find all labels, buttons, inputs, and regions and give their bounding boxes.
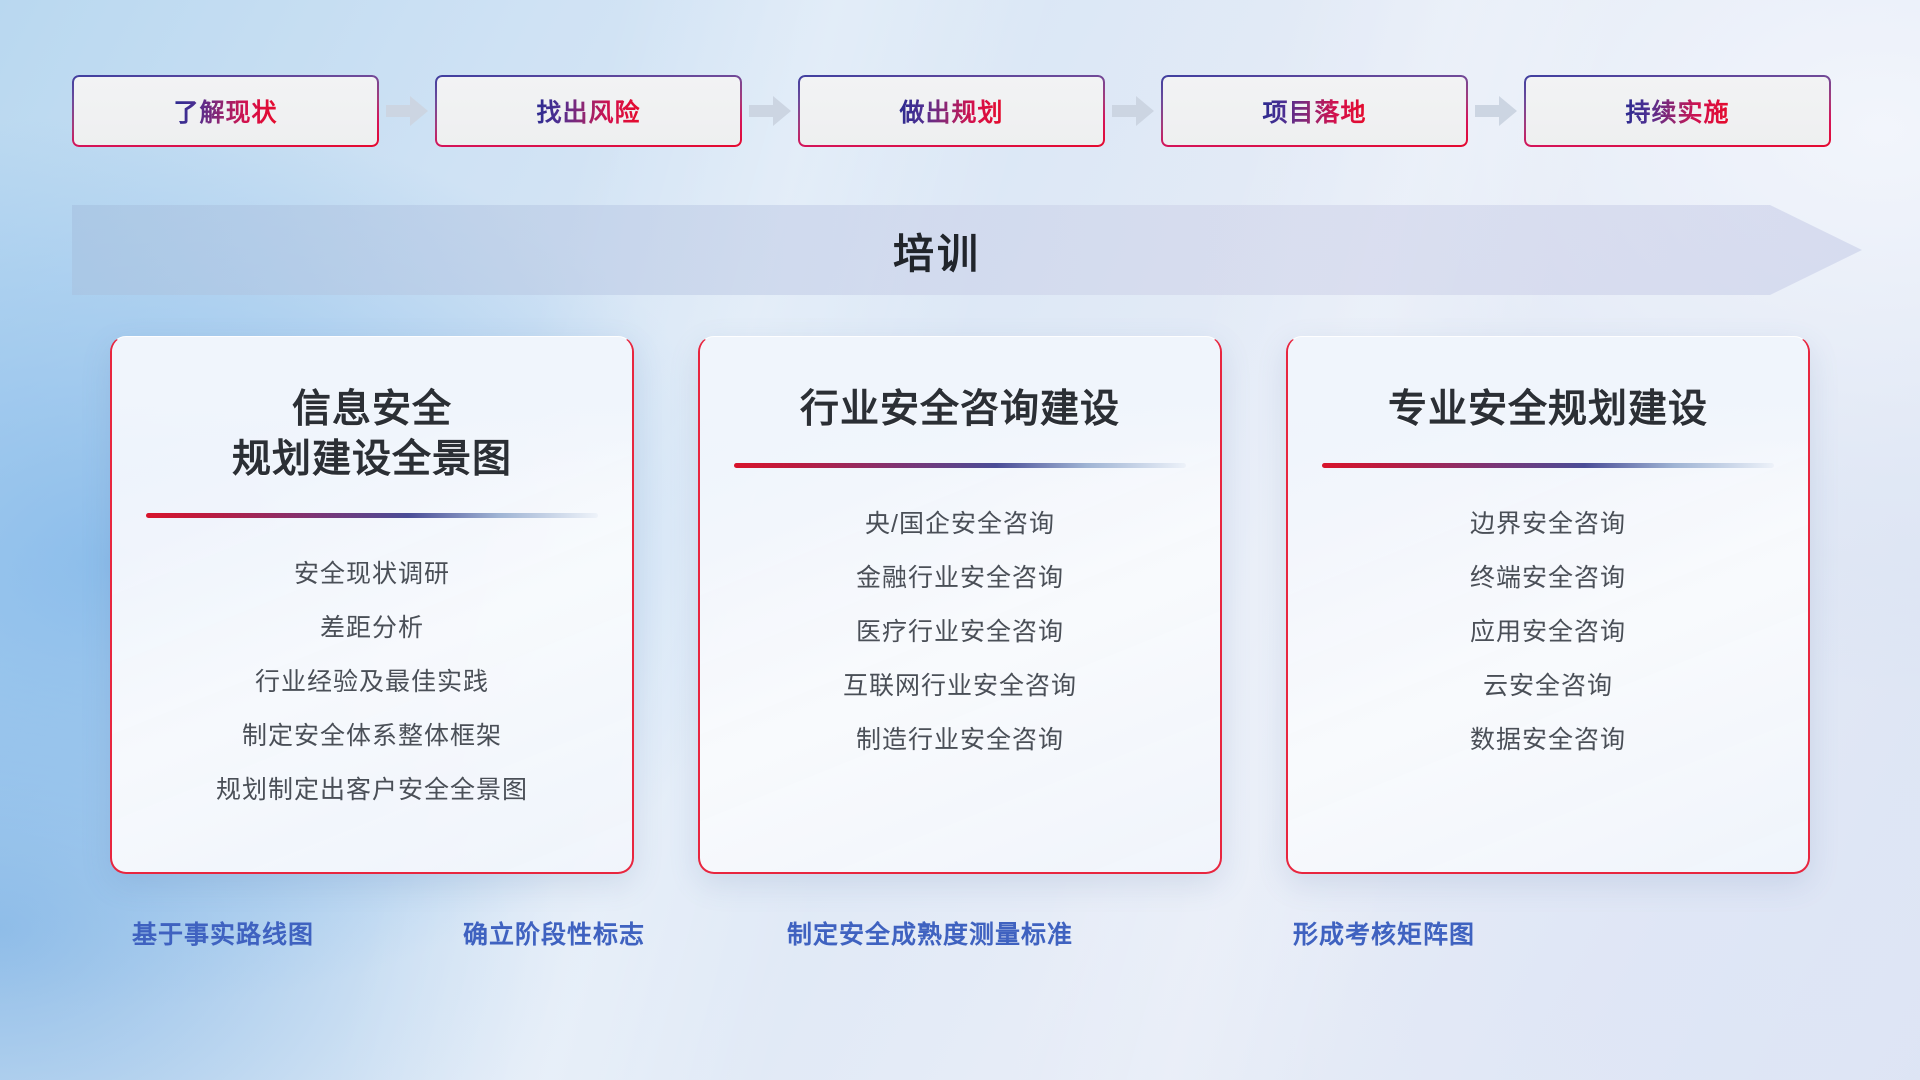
arrow-right-icon [1105,75,1161,147]
arrow-right-icon [379,75,435,147]
card-item-list: 安全现状调研 差距分析 行业经验及最佳实践 制定安全体系整体框架 规划制定出客户… [146,554,598,806]
list-item: 应用安全咨询 [1470,612,1626,648]
list-item: 规划制定出客户安全全景图 [216,770,528,806]
card-divider [1322,463,1774,468]
step-box-2[interactable]: 找出风险 [435,75,742,147]
card-item-list: 边界安全咨询 终端安全咨询 应用安全咨询 云安全咨询 数据安全咨询 [1322,504,1774,756]
footnote-row: 基于事实路线图 确立阶段性标志 制定安全成熟度测量标准 形成考核矩阵图 [0,915,1920,965]
card-title: 行业安全咨询建设 [800,385,1120,435]
step-box-4[interactable]: 项目落地 [1161,75,1468,147]
step-label: 找出风险 [536,93,640,129]
arrow-right-icon [1468,75,1524,147]
list-item: 医疗行业安全咨询 [856,612,1064,648]
list-item: 行业经验及最佳实践 [255,662,489,698]
arrow-right-icon [742,75,798,147]
card-professional-planning[interactable]: 专业安全规划建设 边界安全咨询 终端安全咨询 应用安全咨询 云安全咨询 数据安全… [1286,336,1810,874]
card-group: 信息安全 规划建设全景图 安全现状调研 差距分析 行业经验及最佳实践 制定安全体… [110,336,1810,874]
footnote-roadmap: 基于事实路线图 [132,915,314,951]
footnote-maturity-standard: 制定安全成熟度测量标准 [787,915,1073,951]
step-flow: 了解现状 找出风险 做出规划 项目落地 [72,75,1856,147]
list-item: 差距分析 [320,608,424,644]
banner-title: 培训 [72,205,1862,295]
list-item: 制造行业安全咨询 [856,720,1064,756]
list-item: 制定安全体系整体框架 [242,716,502,752]
card-title: 信息安全 规划建设全景图 [232,385,512,485]
list-item: 边界安全咨询 [1470,504,1626,540]
list-item: 金融行业安全咨询 [856,558,1064,594]
step-box-3[interactable]: 做出规划 [798,75,1105,147]
step-label: 了解现状 [173,93,277,129]
card-panorama[interactable]: 信息安全 规划建设全景图 安全现状调研 差距分析 行业经验及最佳实践 制定安全体… [110,336,634,874]
list-item: 云安全咨询 [1483,666,1613,702]
step-label: 做出规划 [899,93,1003,129]
footnote-milestone: 确立阶段性标志 [463,915,645,951]
footnote-assessment-matrix: 形成考核矩阵图 [1293,915,1475,951]
list-item: 互联网行业安全咨询 [843,666,1077,702]
card-title: 专业安全规划建设 [1388,385,1708,435]
card-industry-consulting[interactable]: 行业安全咨询建设 央/国企安全咨询 金融行业安全咨询 医疗行业安全咨询 互联网行… [698,336,1222,874]
slide-root: 了解现状 找出风险 做出规划 项目落地 [0,0,1920,1080]
list-item: 安全现状调研 [294,554,450,590]
training-banner: 培训 [72,205,1862,295]
step-label: 项目落地 [1262,93,1366,129]
list-item: 数据安全咨询 [1470,720,1626,756]
card-item-list: 央/国企安全咨询 金融行业安全咨询 医疗行业安全咨询 互联网行业安全咨询 制造行… [734,504,1186,756]
step-box-1[interactable]: 了解现状 [72,75,379,147]
list-item: 终端安全咨询 [1470,558,1626,594]
card-divider [146,513,598,518]
step-label: 持续实施 [1625,93,1729,129]
card-divider [734,463,1186,468]
step-box-5[interactable]: 持续实施 [1524,75,1831,147]
list-item: 央/国企安全咨询 [865,504,1055,540]
